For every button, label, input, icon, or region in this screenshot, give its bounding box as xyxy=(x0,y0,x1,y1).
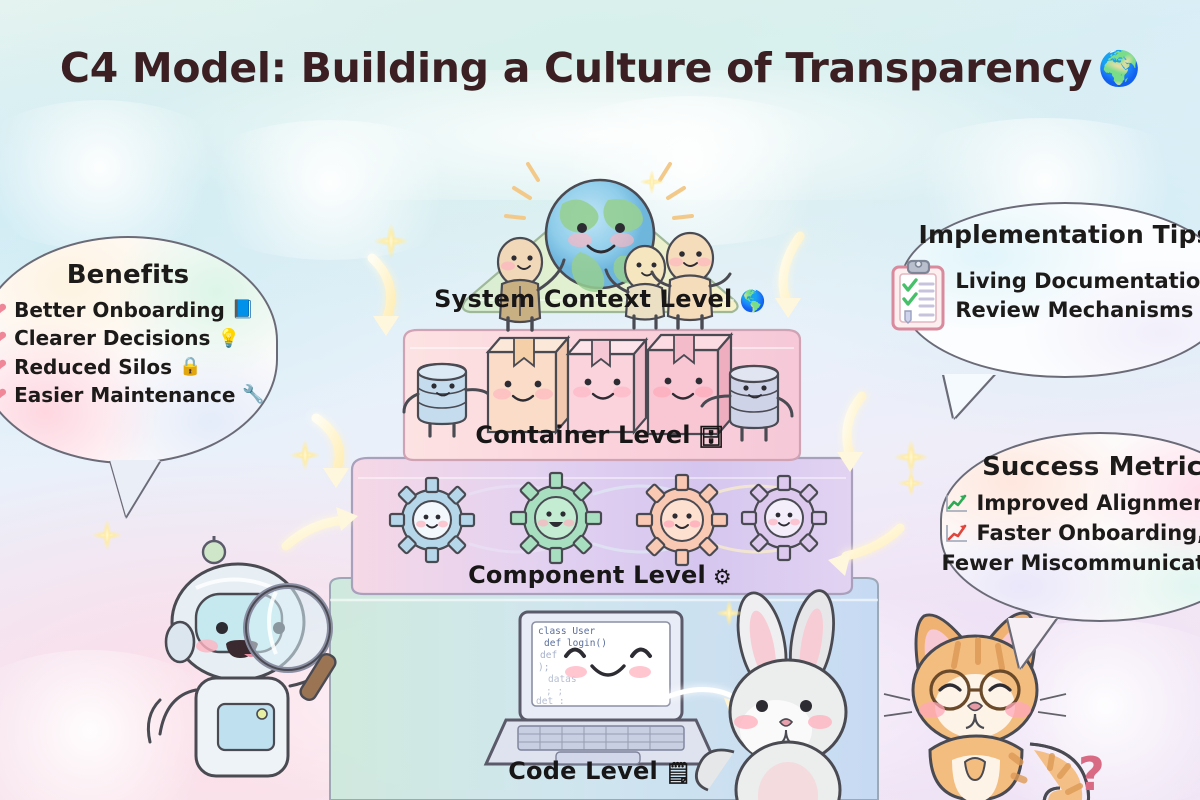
gear-mascot xyxy=(742,476,826,560)
level-label-code: Code Level🗒 xyxy=(0,757,1200,786)
bubble-title: Benefits xyxy=(67,260,190,290)
level-label-text: Container Level xyxy=(475,421,690,449)
page-icon: 🗒 xyxy=(665,761,692,785)
list-item: Fewer Miscommunications xyxy=(941,548,1200,578)
speech-bubble-benefits: Benefits ❤ Better Onboarding 📘 ❤ Clearer… xyxy=(0,236,278,464)
lock-icon: 🔒 xyxy=(179,358,201,376)
page-title-text: C4 Model: Building a Culture of Transpar… xyxy=(60,44,1092,92)
list-item-label: Fewer Miscommunications xyxy=(941,548,1200,578)
gear-mascot xyxy=(637,475,727,565)
clipboard-checklist-icon xyxy=(889,259,949,333)
svg-text:det :: det : xyxy=(536,696,565,707)
box-mascot xyxy=(568,340,646,432)
heart-icon: ❤ xyxy=(0,301,7,320)
gear-icon: ⚙ xyxy=(713,565,732,589)
bubble-tail xyxy=(110,460,160,516)
list-item-label: Easier Maintenance xyxy=(14,381,235,409)
list-item-label: Living Documentation xyxy=(955,267,1200,296)
list-item: ❤ Better Onboarding 📘 xyxy=(0,296,265,324)
page-title: C4 Model: Building a Culture of Transpar… xyxy=(0,44,1200,92)
list-item-label: Improved Alignment, xyxy=(976,488,1200,518)
list-item-label: Clearer Decisions xyxy=(14,324,210,352)
chart-up-red-icon xyxy=(945,523,969,543)
list-item-label: Reduced Silos xyxy=(14,353,172,381)
list-item-label: Faster Onboarding, xyxy=(976,518,1200,548)
svg-text:);: ); xyxy=(538,662,549,673)
heart-icon: ❤ xyxy=(0,386,7,405)
bubble-tail xyxy=(944,374,994,418)
svg-text:def: def xyxy=(540,650,557,661)
list-item-label: Review Mechanisms xyxy=(955,296,1193,325)
level-label-text: Code Level xyxy=(508,757,658,785)
list-item: ❤ Easier Maintenance 🔧 xyxy=(0,381,265,409)
list-item: Faster Onboarding, xyxy=(945,518,1200,548)
benefits-list: ❤ Better Onboarding 📘 ❤ Clearer Decision… xyxy=(0,296,265,410)
globe-icon: 🌎 xyxy=(739,289,765,313)
svg-text:def login(): def login() xyxy=(544,638,607,649)
bubble-title: Implementation Tips xyxy=(919,220,1200,249)
list-item: ❤ Clearer Decisions 💡 xyxy=(0,324,265,352)
heart-icon: ❤ xyxy=(0,329,7,348)
tips-list: Living Documentation 📖 Review Mechanisms… xyxy=(955,267,1200,325)
list-item: ❤ Reduced Silos 🔒 xyxy=(0,353,265,381)
gear-mascot xyxy=(390,478,474,562)
database-icon: 🗄 xyxy=(698,425,725,449)
metrics-list: Improved Alignment, Faster Onboarding, F… xyxy=(945,488,1200,579)
bubble-tail xyxy=(1008,618,1056,668)
illustration-canvas: class User def login() def ); datas ; ; … xyxy=(0,0,1200,800)
box-mascot xyxy=(648,335,731,434)
list-item: Improved Alignment, xyxy=(945,488,1200,518)
chart-up-green-icon xyxy=(945,493,969,513)
box-mascot xyxy=(488,338,568,432)
globe-icon: 🌍 xyxy=(1098,49,1140,89)
list-item: Living Documentation 📖 xyxy=(955,267,1200,296)
speech-bubble-implementation-tips: Implementation Tips Living Documentation xyxy=(900,202,1200,378)
level-label-text: Component Level xyxy=(468,561,706,589)
heart-icon: ❤ xyxy=(0,357,7,376)
lightbulb-icon: 💡 xyxy=(217,330,239,348)
bubble-title: Success Metrics xyxy=(982,452,1200,482)
list-item: Review Mechanisms 🔍 xyxy=(955,296,1200,325)
list-item-label: Better Onboarding xyxy=(14,296,225,324)
level-label-text: System Context Level xyxy=(434,285,732,313)
gear-mascot xyxy=(511,473,601,563)
wrench-icon: 🔧 xyxy=(242,386,264,404)
book-icon: 📘 xyxy=(232,301,254,319)
svg-text:class User: class User xyxy=(538,626,595,637)
